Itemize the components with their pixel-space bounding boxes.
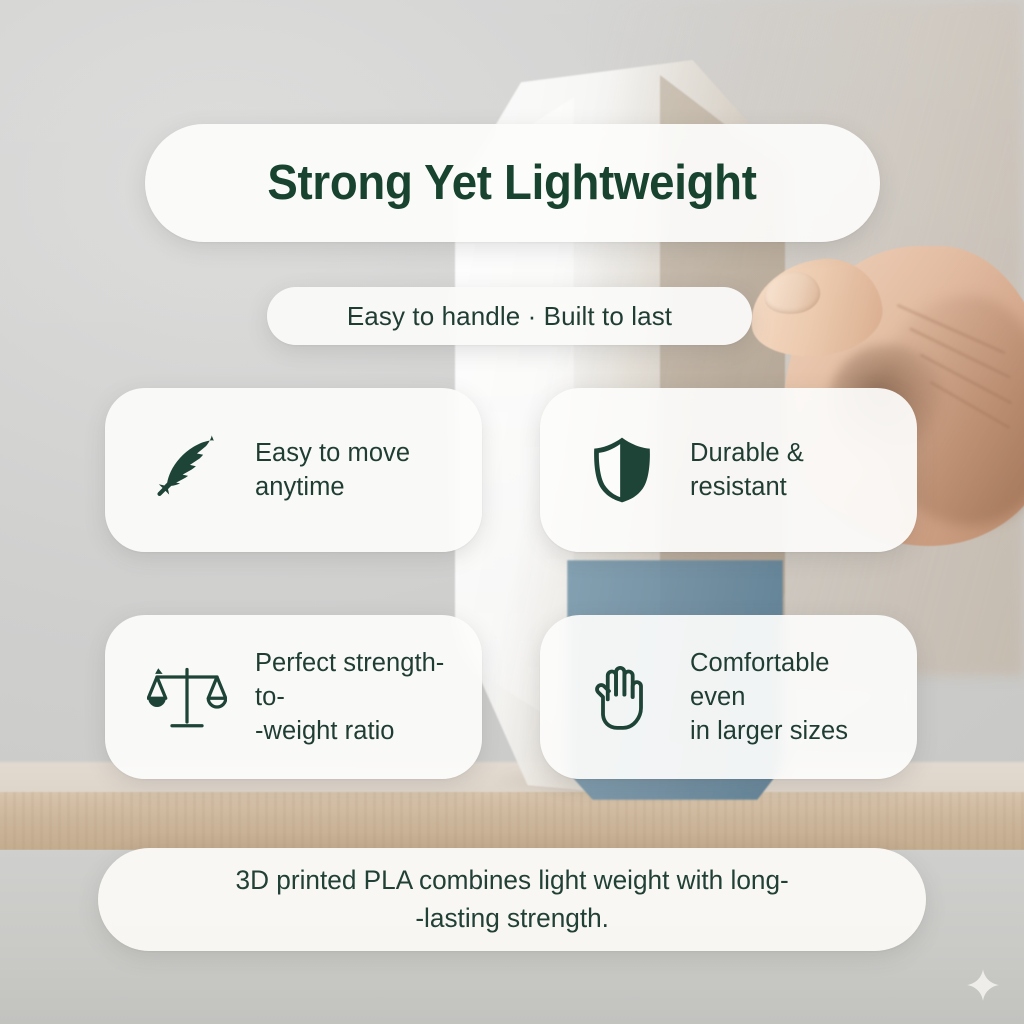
feature-label-line-1: Durable & [690,436,804,470]
feature-card-label: Perfect strength-to- -weight ratio [255,646,456,748]
feature-label-line-1: Easy to move [255,436,410,470]
wooden-shelf-board [0,792,1024,850]
feature-card-label: Easy to move anytime [255,436,410,504]
open-hand-icon [580,655,664,739]
feather-icon [145,428,229,512]
feature-label-line-2: -weight ratio [255,714,456,748]
footer-pill: 3D printed PLA combines light weight wit… [98,848,926,951]
subtitle-pill: Easy to handle · Built to last [267,287,752,345]
feature-label-line-2: resistant [690,470,804,504]
sparkle-icon [966,968,1000,1002]
feature-card-label: Comfortable even in larger sizes [690,646,891,748]
feature-label-line-2: in larger sizes [690,714,891,748]
product-feature-infographic: Strong Yet Lightweight Easy to handle · … [0,0,1024,1024]
feature-label-line-1: Perfect strength-to- [255,646,456,714]
footer-caption: 3D printed PLA combines light weight wit… [235,862,788,937]
feature-label-line-1: Comfortable even [690,646,891,714]
page-subtitle: Easy to handle · Built to last [347,301,672,332]
title-pill: Strong Yet Lightweight [145,124,880,242]
feature-card-label: Durable & resistant [690,436,804,504]
feature-card-strength-to-weight[interactable]: Perfect strength-to- -weight ratio [105,615,482,779]
page-title: Strong Yet Lightweight [268,155,757,211]
footer-line-2: -lasting strength. [235,900,788,937]
feature-card-durable[interactable]: Durable & resistant [540,388,917,552]
shield-icon [580,428,664,512]
balance-scale-icon [145,655,229,739]
feature-card-easy-to-move[interactable]: Easy to move anytime [105,388,482,552]
feature-label-line-2: anytime [255,470,410,504]
footer-line-1: 3D printed PLA combines light weight wit… [235,862,788,899]
feature-card-comfortable[interactable]: Comfortable even in larger sizes [540,615,917,779]
